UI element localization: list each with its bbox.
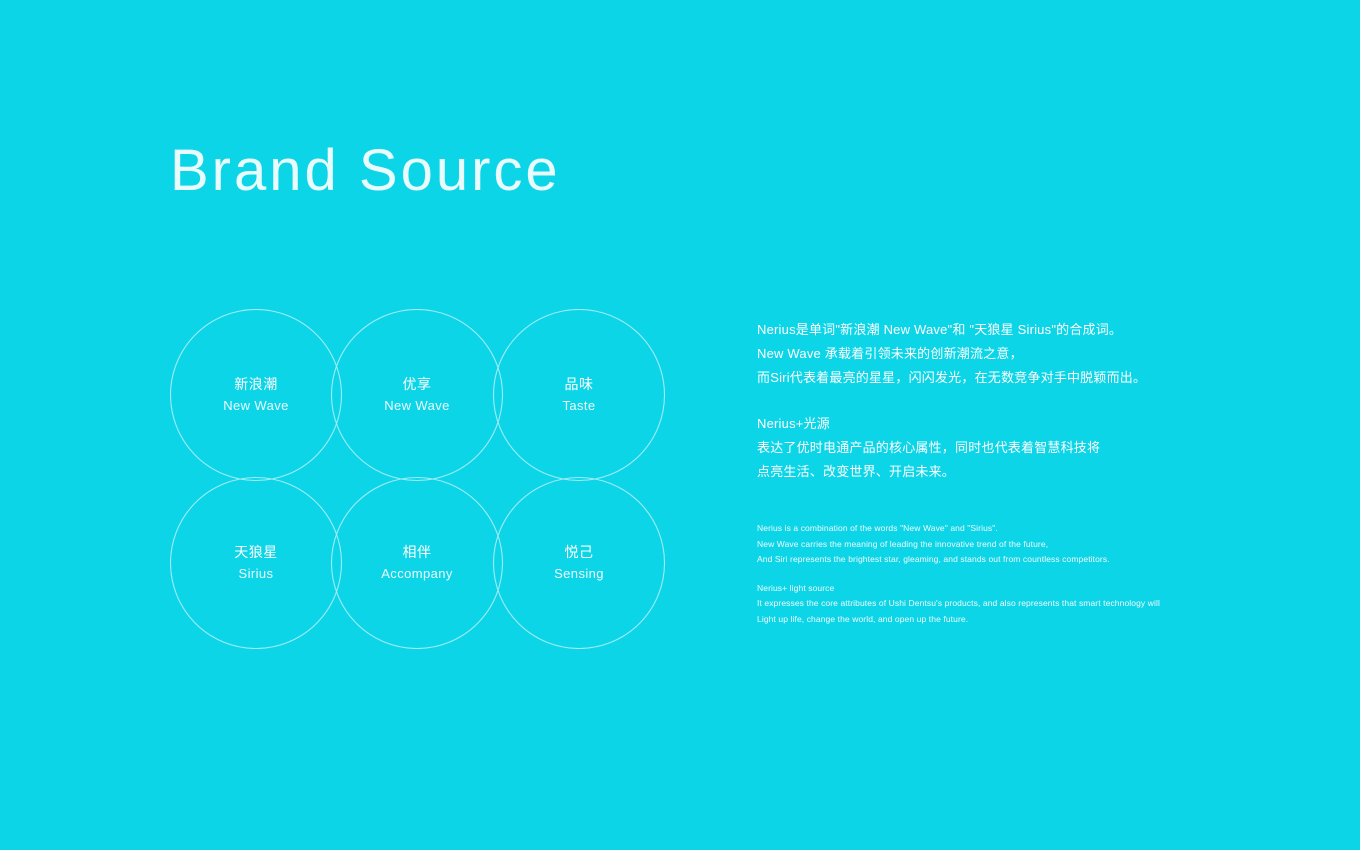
chinese-line: 而Siri代表着最亮的星星，闪闪发光，在无数竞争对手中脱颖而出。	[757, 366, 1227, 390]
english-line: It expresses the core attributes of Ushi…	[757, 596, 1227, 612]
english-line: Light up life, change the world, and ope…	[757, 612, 1227, 628]
english-line: Nerius is a combination of the words "Ne…	[757, 521, 1227, 537]
chinese-paragraph-1: Nerius是单词"新浪潮 New Wave"和 "天狼星 Sirius"的合成…	[757, 318, 1227, 390]
english-paragraph-1: Nerius is a combination of the words "Ne…	[757, 521, 1227, 568]
english-paragraph-2: Nerius+ light source It expresses the co…	[757, 581, 1227, 628]
chinese-line: New Wave 承载着引领未来的创新潮流之意，	[757, 342, 1227, 366]
english-line: Nerius+ light source	[757, 581, 1227, 597]
chinese-paragraph-2: Nerius+光源 表达了优时电通产品的核心属性，同时也代表着智慧科技将 点亮生…	[757, 412, 1227, 484]
chinese-line: Nerius是单词"新浪潮 New Wave"和 "天狼星 Sirius"的合成…	[757, 318, 1227, 342]
venn-circles-svg	[170, 309, 682, 649]
circle-outline-5	[332, 478, 503, 649]
chinese-description: Nerius是单词"新浪潮 New Wave"和 "天狼星 Sirius"的合成…	[757, 318, 1227, 484]
chinese-line: 点亮生活、改变世界、开启未来。	[757, 460, 1227, 484]
english-line: New Wave carries the meaning of leading …	[757, 537, 1227, 553]
slide-canvas: Brand Source 新浪潮 New Wave 优享 New Wave 品味…	[0, 0, 1360, 850]
english-description: Nerius is a combination of the words "Ne…	[757, 521, 1227, 628]
chinese-line: Nerius+光源	[757, 412, 1227, 436]
brand-source-circle-diagram: 新浪潮 New Wave 优享 New Wave 品味 Taste 天狼星 Si…	[170, 309, 682, 649]
chinese-line: 表达了优时电通产品的核心属性，同时也代表着智慧科技将	[757, 436, 1227, 460]
circle-outline-4	[171, 478, 342, 649]
page-title: Brand Source	[170, 139, 561, 203]
circle-outline-3	[494, 310, 665, 481]
english-line: And Siri represents the brightest star, …	[757, 552, 1227, 568]
circle-outline-2	[332, 310, 503, 481]
circle-outline-6	[494, 478, 665, 649]
circle-outline-1	[171, 310, 342, 481]
